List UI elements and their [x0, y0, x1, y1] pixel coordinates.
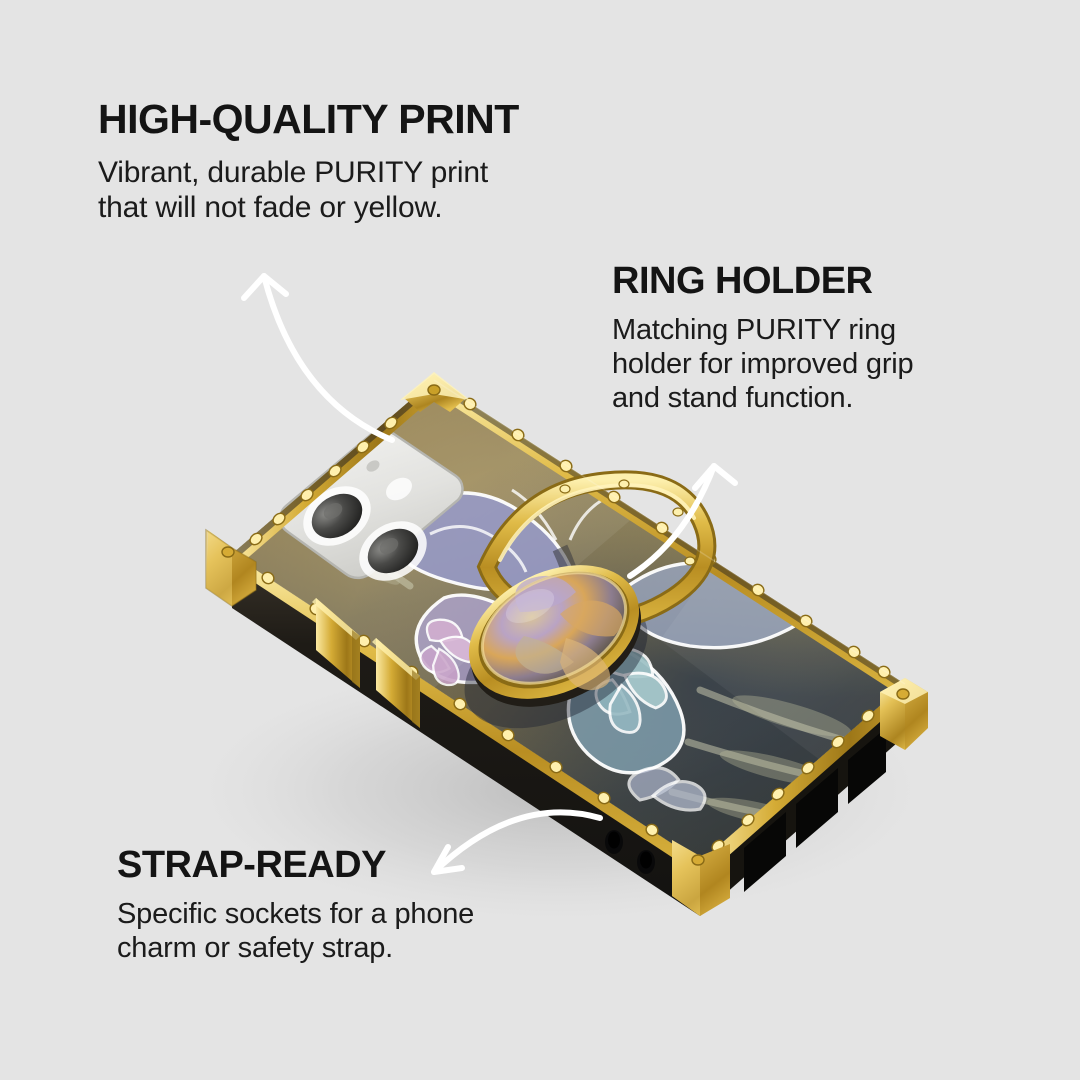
callout-ring-holder: RING HOLDER Matching PURITY ring holder …: [612, 262, 913, 416]
callout-body-line: that will not fade or yellow.: [98, 190, 519, 225]
callout-body-strap: Specific sockets for a phone charm or sa…: [117, 897, 474, 965]
callout-body-line: holder for improved grip: [612, 347, 913, 381]
infographic-canvas: HIGH-QUALITY PRINT Vibrant, durable PURI…: [0, 0, 1080, 1080]
callout-high-quality-print: HIGH-QUALITY PRINT Vibrant, durable PURI…: [98, 99, 519, 226]
callout-strap-ready: STRAP-READY Specific sockets for a phone…: [117, 846, 474, 965]
callout-body-line: and stand function.: [612, 381, 913, 415]
callout-heading-print: HIGH-QUALITY PRINT: [98, 99, 519, 140]
callout-body-line: Vibrant, durable PURITY print: [98, 155, 519, 190]
callout-body-ring: Matching PURITY ring holder for improved…: [612, 313, 913, 416]
callout-body-print: Vibrant, durable PURITY print that will …: [98, 155, 519, 226]
corner-protector-right: [880, 678, 928, 750]
callout-body-line: Matching PURITY ring: [612, 313, 913, 347]
callout-body-line: charm or safety strap.: [117, 931, 474, 965]
callout-body-line: Specific sockets for a phone: [117, 897, 474, 931]
callout-heading-strap: STRAP-READY: [117, 846, 474, 884]
callout-heading-ring: RING HOLDER: [612, 262, 913, 300]
